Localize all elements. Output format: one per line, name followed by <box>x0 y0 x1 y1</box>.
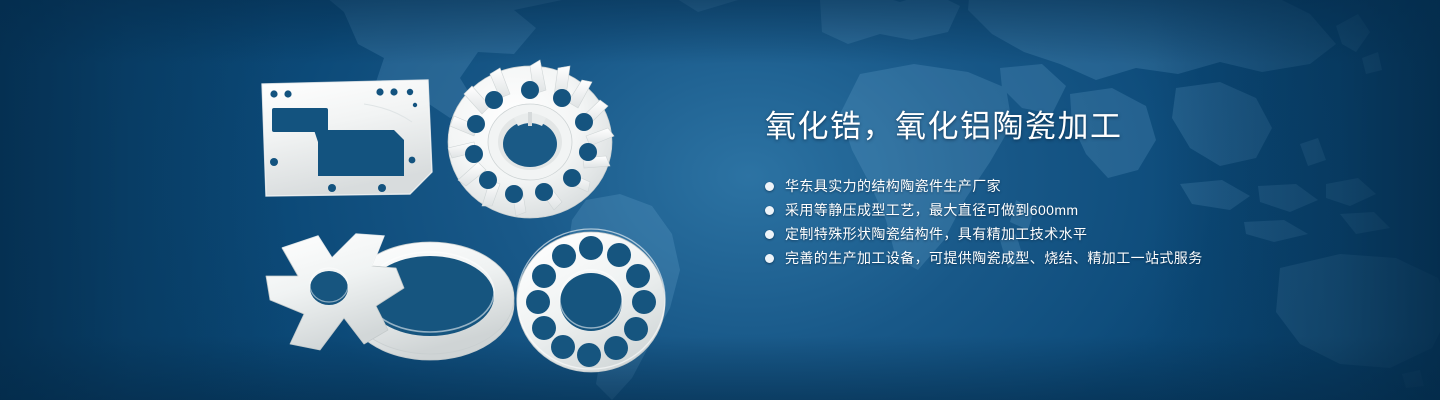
ceramic-impeller-disc <box>442 46 618 226</box>
banner-content: 氧化锆，氧化铝陶瓷加工 华东具实力的结构陶瓷件生产厂家 采用等静压成型工艺，最大… <box>765 108 1385 271</box>
list-item: 华东具实力的结构陶瓷件生产厂家 <box>765 175 1385 198</box>
ceramic-perforated-disc <box>512 222 670 378</box>
ceramic-cross-plate <box>248 222 448 372</box>
list-item: 采用等静压成型工艺，最大直径可做到600mm <box>765 199 1385 222</box>
promo-banner: 氧化锆，氧化铝陶瓷加工 华东具实力的结构陶瓷件生产厂家 采用等静压成型工艺，最大… <box>0 0 1440 400</box>
feature-text: 定制特殊形状陶瓷结构件，具有精加工技术水平 <box>785 223 1087 246</box>
feature-text: 采用等静压成型工艺，最大直径可做到600mm <box>785 199 1078 222</box>
bullet-dot-icon <box>765 206 774 215</box>
bullet-dot-icon <box>765 230 774 239</box>
product-showcase <box>0 0 720 400</box>
feature-text: 华东具实力的结构陶瓷件生产厂家 <box>785 175 1001 198</box>
feature-list: 华东具实力的结构陶瓷件生产厂家 采用等静压成型工艺，最大直径可做到600mm 定… <box>765 175 1385 270</box>
bullet-dot-icon <box>765 254 774 263</box>
list-item: 完善的生产加工设备，可提供陶瓷成型、烧结、精加工一站式服务 <box>765 247 1385 270</box>
list-item: 定制特殊形状陶瓷结构件，具有精加工技术水平 <box>765 223 1385 246</box>
bullet-dot-icon <box>765 182 774 191</box>
feature-text: 完善的生产加工设备，可提供陶瓷成型、烧结、精加工一站式服务 <box>785 247 1203 270</box>
banner-headline: 氧化锆，氧化铝陶瓷加工 <box>765 108 1385 147</box>
ceramic-machined-plate <box>252 78 444 200</box>
